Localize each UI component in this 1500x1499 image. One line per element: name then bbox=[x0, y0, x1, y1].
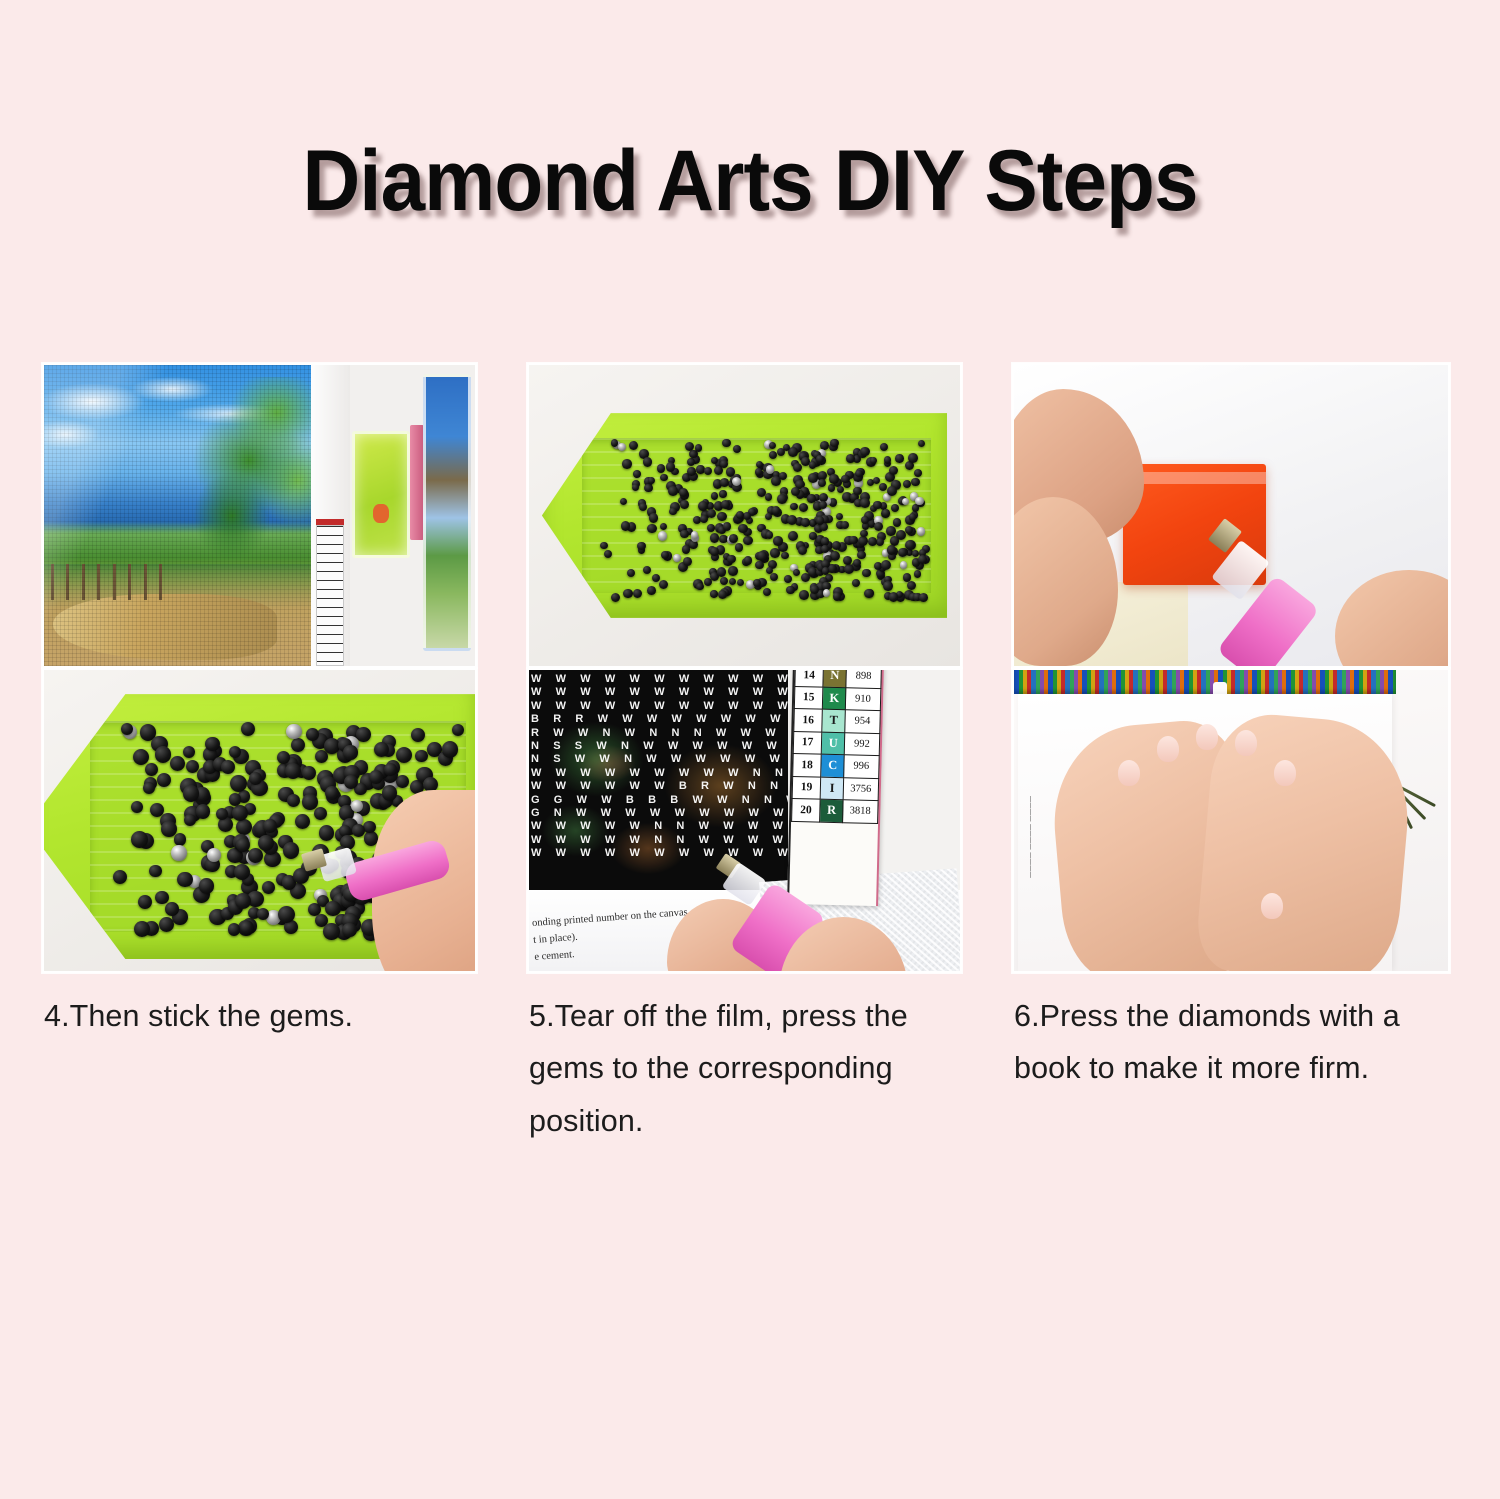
gem bbox=[722, 439, 730, 447]
gem bbox=[286, 724, 302, 740]
gem bbox=[384, 763, 397, 776]
gem bbox=[235, 893, 251, 909]
chart-row: 20R3818 bbox=[791, 798, 877, 823]
gem bbox=[622, 459, 631, 468]
gem bbox=[263, 819, 277, 833]
right-hand bbox=[1194, 710, 1415, 973]
step-1-photo bbox=[42, 363, 477, 668]
gem bbox=[735, 543, 744, 552]
gem bbox=[452, 724, 464, 736]
gem bbox=[710, 547, 719, 556]
gem bbox=[319, 825, 335, 841]
grid-gap-2 bbox=[962, 363, 1012, 668]
gem bbox=[718, 590, 727, 599]
gem bbox=[881, 560, 891, 570]
gem bbox=[915, 497, 923, 505]
step-card-4: 4.Then stick the gems. bbox=[42, 668, 477, 973]
gem bbox=[658, 531, 667, 540]
fingernail bbox=[1118, 760, 1140, 786]
gem bbox=[770, 548, 779, 557]
gem bbox=[771, 476, 781, 486]
gem bbox=[914, 570, 921, 577]
step-6-photo: ———— ———— ———— bbox=[1012, 668, 1450, 973]
chart-index: 15 bbox=[794, 686, 823, 709]
grid-gap-3 bbox=[477, 668, 527, 973]
step-3-photo bbox=[1012, 363, 1450, 668]
gem bbox=[777, 448, 785, 456]
gem bbox=[911, 478, 919, 486]
gem bbox=[909, 513, 916, 520]
gem bbox=[262, 881, 275, 894]
gem bbox=[861, 516, 869, 524]
gem bbox=[720, 460, 728, 468]
gem bbox=[170, 756, 185, 771]
gem bbox=[855, 470, 862, 477]
gem bbox=[736, 511, 744, 519]
gem bbox=[873, 477, 880, 484]
gem bbox=[687, 467, 695, 475]
chart-row: 17U992 bbox=[793, 731, 879, 756]
gem bbox=[666, 462, 676, 472]
fingernail bbox=[1196, 724, 1218, 750]
gem bbox=[846, 454, 855, 463]
side-text: ———— ———— ———— bbox=[1021, 796, 1034, 934]
gem bbox=[719, 535, 728, 544]
chart-dmc: 898 bbox=[846, 668, 881, 688]
gem bbox=[639, 503, 647, 511]
grid-gap-4 bbox=[962, 668, 1012, 973]
chart-index: 20 bbox=[791, 798, 820, 821]
gem bbox=[852, 579, 860, 587]
gem bbox=[323, 923, 340, 940]
gem bbox=[809, 532, 816, 539]
gem bbox=[908, 453, 918, 463]
gem bbox=[849, 536, 857, 544]
page-title: Diamond Arts DIY Steps bbox=[53, 136, 1448, 226]
chart-symbol: N bbox=[823, 668, 847, 687]
gem bbox=[719, 490, 726, 497]
gem bbox=[755, 468, 762, 475]
gem bbox=[873, 501, 881, 509]
gem bbox=[138, 895, 152, 909]
chart-index: 16 bbox=[794, 708, 823, 731]
gem bbox=[829, 474, 838, 483]
gem bbox=[793, 463, 802, 472]
gem-bag-green bbox=[352, 431, 410, 557]
gem bbox=[890, 536, 900, 546]
gem bbox=[343, 745, 357, 759]
gem bbox=[819, 501, 827, 509]
gem bbox=[902, 498, 909, 505]
gem bbox=[600, 542, 607, 549]
gem bbox=[177, 872, 193, 888]
gem bbox=[832, 541, 841, 550]
gem bbox=[644, 484, 652, 492]
gem bbox=[828, 484, 835, 491]
chart-dmc: 992 bbox=[844, 732, 879, 755]
step-4-photo bbox=[42, 668, 477, 973]
gem bbox=[860, 498, 870, 508]
gem bbox=[919, 593, 928, 602]
gem bbox=[816, 455, 824, 463]
gem bbox=[356, 727, 371, 742]
gem bbox=[673, 554, 681, 562]
chart-symbol: C bbox=[821, 754, 845, 777]
fingernail bbox=[1235, 730, 1257, 756]
gem bbox=[858, 536, 868, 546]
gem bbox=[895, 454, 904, 463]
gem bbox=[777, 494, 787, 504]
gem bbox=[816, 516, 824, 524]
fingernail bbox=[1157, 736, 1179, 762]
gem bbox=[807, 494, 815, 502]
gem bbox=[914, 469, 922, 477]
gem bbox=[661, 551, 669, 559]
chart-symbol: K bbox=[822, 687, 846, 710]
gem bbox=[228, 923, 240, 935]
gem bbox=[205, 737, 220, 752]
gem bbox=[801, 518, 809, 526]
gem bbox=[199, 878, 214, 893]
gem bbox=[841, 521, 849, 529]
ruler-tool bbox=[316, 525, 344, 666]
gem bbox=[325, 901, 340, 916]
gem bbox=[744, 556, 753, 565]
gem bbox=[732, 477, 741, 486]
gem bbox=[864, 589, 873, 598]
chart-row: 14N898 bbox=[795, 668, 881, 688]
gem bbox=[900, 561, 907, 568]
chart-index: 19 bbox=[792, 776, 821, 799]
gem bbox=[196, 804, 211, 819]
gem bbox=[161, 821, 177, 837]
gem bbox=[691, 531, 699, 539]
chart-symbol: U bbox=[821, 732, 845, 755]
gem bbox=[763, 588, 771, 596]
gem bbox=[682, 545, 690, 553]
step-6-caption: 6.Press the diamonds with a book to make… bbox=[1014, 990, 1454, 1095]
gem bbox=[134, 921, 150, 937]
step-card-2: 2.Pour the gems into the plate, and shak… bbox=[527, 363, 962, 668]
gem bbox=[707, 524, 715, 532]
gem bbox=[784, 575, 792, 583]
gem bbox=[183, 785, 200, 802]
gem bbox=[680, 530, 688, 538]
diamond-art-steps-infographic: Diamond Arts DIY Steps bbox=[0, 0, 1500, 1499]
gem bbox=[886, 526, 896, 536]
gem bbox=[696, 583, 704, 591]
grid-gap-1 bbox=[477, 363, 527, 668]
gem bbox=[291, 738, 305, 752]
gem bbox=[306, 728, 319, 741]
gem bbox=[903, 573, 911, 581]
chart-row: 19I3756 bbox=[792, 776, 878, 801]
gem bbox=[733, 445, 741, 453]
gem bbox=[689, 540, 698, 549]
chart-index: 17 bbox=[793, 731, 822, 754]
gem bbox=[799, 590, 809, 600]
gem bbox=[647, 524, 656, 533]
gem bbox=[729, 534, 738, 543]
chart-dmc: 910 bbox=[845, 687, 880, 710]
gem bbox=[728, 566, 738, 576]
gem bbox=[382, 785, 397, 800]
gem bbox=[781, 552, 788, 559]
chart-dmc: 3818 bbox=[843, 800, 878, 823]
gem bbox=[131, 831, 148, 848]
gem bbox=[793, 569, 800, 576]
gem bbox=[611, 439, 618, 446]
gem bbox=[352, 824, 365, 837]
colour-symbol-chart: 14N89815K91016T95417U99218C99619I375620R… bbox=[787, 668, 883, 906]
gem bbox=[917, 527, 925, 535]
gem bbox=[649, 513, 658, 522]
gem bbox=[720, 577, 728, 585]
gem bbox=[870, 457, 877, 464]
gem bbox=[411, 728, 425, 742]
drill-pen-packaged bbox=[410, 425, 424, 539]
gem bbox=[669, 508, 676, 515]
gem bbox=[683, 557, 692, 566]
gem bbox=[659, 580, 668, 589]
gem bbox=[234, 864, 250, 880]
gem bbox=[912, 504, 920, 512]
gem bbox=[809, 461, 817, 469]
gem bbox=[643, 457, 653, 467]
canvas-mesh-texture bbox=[44, 365, 311, 666]
chart-symbol: R bbox=[820, 799, 844, 822]
gem bbox=[643, 566, 651, 574]
gem bbox=[700, 515, 708, 523]
gem bbox=[221, 760, 235, 774]
step-5-caption: 5.Tear off the film, press the gems to t… bbox=[529, 990, 969, 1147]
gem bbox=[738, 524, 748, 534]
gem bbox=[314, 807, 327, 820]
gem bbox=[363, 821, 376, 834]
gem bbox=[258, 835, 275, 852]
gem bbox=[287, 794, 300, 807]
chart-index: 18 bbox=[792, 753, 821, 776]
gem bbox=[790, 503, 798, 511]
fingernail bbox=[1274, 760, 1296, 786]
gem bbox=[149, 865, 161, 877]
gem bbox=[808, 473, 818, 483]
chart-row: 15K910 bbox=[794, 686, 880, 711]
gem bbox=[887, 545, 896, 554]
gem bbox=[695, 444, 703, 452]
chart-dmc: 996 bbox=[844, 755, 879, 778]
gem bbox=[621, 521, 631, 531]
step-card-3: 3.Stick wax with the pen. bbox=[1012, 363, 1450, 668]
gem bbox=[788, 531, 798, 541]
gem bbox=[821, 545, 829, 553]
chart-symbol: T bbox=[822, 709, 846, 732]
gem bbox=[765, 513, 772, 520]
gem bbox=[743, 512, 751, 520]
gem bbox=[183, 746, 195, 758]
gem bbox=[772, 506, 780, 514]
gem bbox=[903, 480, 911, 488]
chart-symbol: I bbox=[820, 777, 844, 800]
gem bbox=[342, 923, 357, 938]
printed-colour-tint bbox=[529, 670, 788, 893]
gem bbox=[415, 750, 427, 762]
chart-row: 18C996 bbox=[792, 753, 878, 778]
gem bbox=[710, 533, 719, 542]
step-card-6: ———— ———— ———— 6.Press the diamonds with… bbox=[1012, 668, 1450, 973]
step-card-5: W W W W W W W W W W W W W W W W W W W W … bbox=[527, 668, 962, 973]
gem bbox=[442, 741, 459, 758]
gem bbox=[283, 842, 299, 858]
gem bbox=[723, 522, 732, 531]
gem bbox=[623, 589, 632, 598]
fingernail bbox=[1261, 893, 1283, 919]
gem bbox=[823, 589, 830, 596]
gem bbox=[633, 470, 641, 478]
gem bbox=[786, 586, 794, 594]
gem bbox=[302, 766, 316, 780]
gem bbox=[660, 474, 667, 481]
gem bbox=[710, 590, 717, 597]
gem bbox=[891, 504, 899, 512]
gem bbox=[766, 465, 775, 474]
green-gem-tray bbox=[542, 413, 947, 618]
gem bbox=[680, 500, 689, 509]
gem bbox=[833, 592, 841, 600]
chart-dmc: 3756 bbox=[843, 777, 878, 800]
gem bbox=[860, 447, 869, 456]
gem bbox=[765, 493, 773, 501]
gem bbox=[853, 559, 861, 567]
step-card-1: 1.Prepare the canvas or coasters, gems a… bbox=[42, 363, 477, 668]
gem bbox=[207, 848, 221, 862]
gem-bag-blue bbox=[423, 374, 470, 651]
gem bbox=[893, 518, 902, 527]
gem bbox=[611, 593, 620, 602]
chart-table: 14N89815K91016T95417U99218C99619I375620R… bbox=[791, 668, 881, 824]
gem bbox=[822, 567, 830, 575]
gem bbox=[889, 592, 898, 601]
gem bbox=[647, 586, 656, 595]
gem bbox=[131, 801, 143, 813]
step-4-caption: 4.Then stick the gems. bbox=[44, 990, 484, 1042]
gem bbox=[918, 555, 927, 564]
gem bbox=[810, 585, 819, 594]
gem bbox=[633, 589, 642, 598]
gem bbox=[727, 555, 735, 563]
gem bbox=[769, 442, 776, 449]
gem bbox=[171, 845, 187, 861]
steps-grid: 1.Prepare the canvas or coasters, gems a… bbox=[42, 363, 1450, 1423]
gem bbox=[770, 573, 778, 581]
gem bbox=[679, 488, 688, 497]
finished-mosaic-strip bbox=[1014, 670, 1396, 694]
step-2-photo bbox=[527, 363, 962, 668]
gem bbox=[830, 439, 838, 447]
gem bbox=[241, 722, 255, 736]
gem bbox=[755, 561, 764, 570]
gem bbox=[769, 451, 777, 459]
step-5-photo: W W W W W W W W W W W W W W W W W W W W … bbox=[527, 668, 962, 973]
chart-index: 14 bbox=[795, 668, 824, 687]
gem bbox=[883, 581, 893, 591]
gem bbox=[801, 573, 810, 582]
symbol-canvas: W W W W W W W W W W W W W W W W W W W W … bbox=[529, 670, 788, 893]
gem bbox=[773, 536, 782, 545]
gem bbox=[236, 838, 250, 852]
chart-row: 16T954 bbox=[794, 708, 880, 733]
chart-dmc: 954 bbox=[845, 710, 880, 733]
gem bbox=[841, 475, 850, 484]
gem bbox=[302, 794, 317, 809]
gem bbox=[165, 902, 179, 916]
